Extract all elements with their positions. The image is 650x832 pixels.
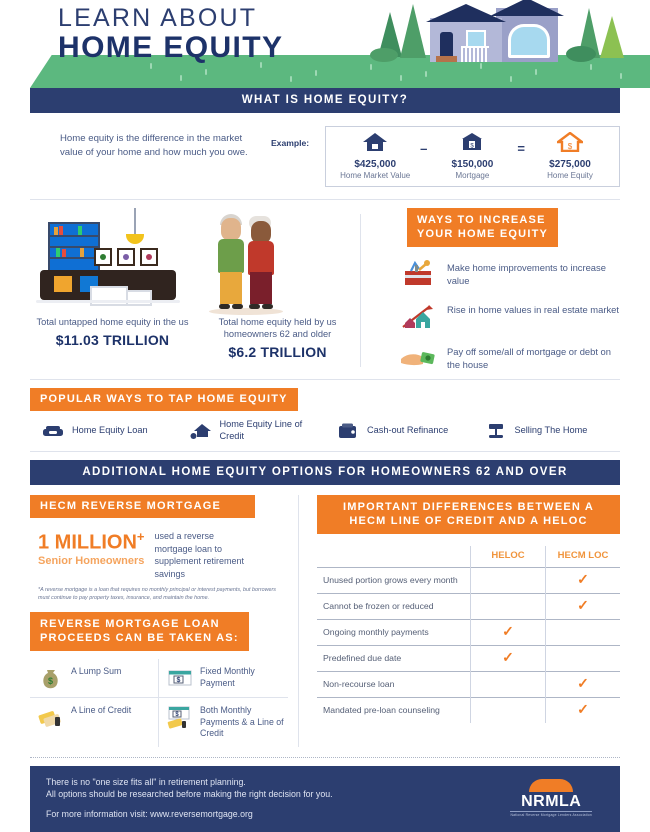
banner-line-1: IMPORTANT DIFFERENCES BETWEEN A [343,501,594,513]
pendant-lamp-icon [126,234,144,244]
example-caption: Mortgage [433,171,511,180]
stat-caption: Total untapped home equity in the us [30,316,195,328]
way-item-label: Make home improvements to increase value [447,257,620,287]
house-scene-illustration [370,2,650,64]
footer-text: There is no "one size fits all" in retir… [46,776,333,821]
hand-cash-icon [399,341,437,373]
credit-card-icon [38,705,64,729]
popular-way-heloc[interactable]: Home Equity Line of Credit [178,419,326,442]
cell-hecm-loc: ✓ [546,672,621,698]
row-label: Cannot be frozen or reduced [317,594,471,620]
sunrise-icon [529,779,573,792]
headline-plus: + [137,529,145,544]
svg-text:$: $ [48,676,53,686]
stats-section: Total untapped home equity in the us $11… [30,200,620,379]
popular-ways-list: Home Equity Loan Home Equity Line of Cre… [30,411,620,451]
example-label: Example: [271,126,309,148]
house-growth-chart-icon [399,299,437,331]
way-item-market-rise: Rise in home values in real estate marke… [389,299,620,331]
page-title: LEARN ABOUT HOME EQUITY [58,4,283,64]
way-item-label: Pay off some/all of mortgage or debt on … [447,341,620,371]
home-equity-description: Home equity is the difference in the mar… [30,126,261,160]
living-room-illustration [30,208,195,316]
example-caption: Home Market Value [336,171,414,180]
svg-text:$: $ [568,142,573,151]
bank-icon: $ [459,132,485,152]
popular-way-cash-out-refinance[interactable]: Cash-out Refinance [325,422,473,440]
stat-senior-equity: Total home equity held by us homeowners … [195,208,360,373]
footer-line-3[interactable]: For more information visit: www.reversem… [46,808,333,821]
cell-hecm-loc: ✓ [546,568,621,594]
proceeds-item-lump-sum: $ A Lump Sum [30,659,159,698]
wallet-icon [337,422,359,440]
hero-header: LEARN ABOUT HOME EQUITY [0,0,650,88]
cell-heloc: ✓ [471,646,546,672]
popular-way-label: Cash-out Refinance [367,425,448,437]
column-header-blank [317,546,471,568]
cell-heloc [471,698,546,724]
stat-value: $11.03 TRILLION [30,332,195,348]
banner-popular-ways: POPULAR WAYS TO TAP HOME EQUITY [30,388,298,411]
cell-heloc [471,568,546,594]
row-label: Mandated pre-loan counseling [317,698,471,724]
equity-stats: Total untapped home equity in the us $11… [30,208,360,373]
row-label: Non-recourse loan [317,672,471,698]
cell-hecm-loc [546,646,621,672]
proceeds-item-label: A Lump Sum [71,666,121,678]
bush-icon [370,48,398,62]
operator-minus: – [420,141,427,172]
house-illustration [430,4,565,62]
comparison-table: HELOC HECM LOC Unused portion grows ever… [317,546,620,723]
popular-way-selling-the-home[interactable]: Selling The Home [473,422,621,440]
comparison-column: IMPORTANT DIFFERENCES BETWEEN A HECM LIN… [298,495,620,747]
popular-way-label: Home Equity Line of Credit [220,419,326,442]
example-amount: $150,000 [433,159,511,170]
check-icon: ✓ [577,571,589,587]
wall-frames-icon [94,248,158,266]
hecm-column: HECM REVERSE MORTGAGE 1 MILLION+ Senior … [30,495,288,747]
banner-comparison: IMPORTANT DIFFERENCES BETWEEN A HECM LIN… [317,495,620,534]
table-row: Mandated pre-loan counseling✓ [317,698,620,724]
footer: There is no "one size fits all" in retir… [30,766,620,832]
table-row: Unused portion grows every month✓ [317,568,620,594]
proceeds-section: REVERSE MORTGAGE LOAN PROCEEDS CAN BE TA… [30,612,288,747]
example-box: $425,000 Home Market Value – $ $150,000 … [325,126,620,187]
proceeds-item-label: Fixed Monthly Payment [200,666,284,689]
cell-heloc: ✓ [471,620,546,646]
infographic-page: LEARN ABOUT HOME EQUITY WHAT IS HOME EQU… [0,0,650,691]
stat-value: $6.2 TRILLION [195,344,360,360]
banner-additional-options: ADDITIONAL HOME EQUITY OPTIONS FOR HOMEO… [30,460,620,485]
house-arch-window [508,24,550,58]
tree-icon [400,4,426,58]
house-arrow-icon [190,422,212,440]
stat-untapped-equity: Total untapped home equity in the us $11… [30,208,195,373]
title-line-1: LEARN ABOUT [58,4,283,32]
proceeds-item-label: A Line of Credit [71,705,131,717]
banner-ways-to-increase: WAYS TO INCREASE YOUR HOME EQUITY [407,208,558,247]
nrmla-logo-name: NRMLA [510,793,592,811]
toolbox-icon [399,257,437,289]
example-item-mortgage: $ $150,000 Mortgage [433,132,511,180]
nrmla-logo-subtitle: National Reverse Mortgage Lenders Associ… [510,811,592,817]
cash-stack-icon [42,422,64,440]
example-amount: $425,000 [336,159,414,170]
popular-ways-section: POPULAR WAYS TO TAP HOME EQUITY Home Equ… [30,380,620,451]
footer-line-1: There is no "one size fits all" in retir… [46,776,333,789]
way-item-pay-off: Pay off some/all of mortgage or debt on … [389,341,620,373]
banner-what-is-home-equity: WHAT IS HOME EQUITY? [30,88,620,113]
row-label: Predefined due date [317,646,471,672]
table-row: Predefined due date✓ [317,646,620,672]
money-bag-icon: $ [38,666,64,690]
table-row: Ongoing monthly payments✓ [317,620,620,646]
hecm-headline: 1 MILLION+ [38,526,144,554]
comparison-table-body: Unused portion grows every month✓Cannot … [317,568,620,724]
way-item-improvements: Make home improvements to increase value [389,257,620,289]
row-label: Ongoing monthly payments [317,620,471,646]
proceeds-item-both: $ Both Monthly Payments & a Line of Cred… [159,698,288,747]
cell-hecm-loc: ✓ [546,594,621,620]
proceeds-grid: $ A Lump Sum $ [30,651,288,747]
proceeds-item-fixed-monthly: $ Fixed Monthly Payment [159,659,288,698]
ways-to-increase-section: WAYS TO INCREASE YOUR HOME EQUITY [371,208,620,373]
example-item-market-value: $425,000 Home Market Value [336,132,414,180]
check-dollar-icon: $ [167,666,193,690]
tree-icon [600,16,624,58]
divider [30,451,620,452]
proceeds-item-label: Both Monthly Payments & a Line of Credit [200,705,284,740]
check-icon: ✓ [502,649,514,665]
title-line-2: HOME EQUITY [58,32,283,64]
row-label: Unused portion grows every month [317,568,471,594]
check-icon: ✓ [577,675,589,691]
house-icon [362,132,388,152]
table-row: Non-recourse loan✓ [317,672,620,698]
table-row: Cannot be frozen or reduced✓ [317,594,620,620]
cell-heloc [471,672,546,698]
popular-way-label: Home Equity Loan [72,425,148,437]
way-item-label: Rise in home values in real estate marke… [447,299,619,316]
check-icon: ✓ [577,597,589,613]
hecm-footnote: *A reverse mortgage is a loan that requi… [30,580,288,602]
example-item-home-equity: $ $275,000 Home Equity [531,132,609,180]
column-header-heloc: HELOC [471,546,546,568]
example-caption: Home Equity [531,171,609,180]
banner-line-1: WAYS TO INCREASE [417,214,546,226]
cell-heloc [471,594,546,620]
nrmla-logo: NRMLA National Reverse Mortgage Lenders … [510,779,604,817]
banner-line-2: PROCEEDS CAN BE TAKEN AS: [40,632,239,644]
options-columns: HECM REVERSE MORTGAGE 1 MILLION+ Senior … [30,485,620,747]
check-icon: ✓ [577,701,589,717]
check-icon: ✓ [502,623,514,639]
banner-proceeds: REVERSE MORTGAGE LOAN PROCEEDS CAN BE TA… [30,612,249,651]
what-is-section: Home equity is the difference in the mar… [30,113,620,199]
cell-hecm-loc [546,620,621,646]
popular-way-label: Selling The Home [515,425,588,437]
house-dollar-icon: $ [557,132,583,152]
check-and-card-icon: $ [167,705,193,729]
stat-caption: Total home equity held by us homeowners … [195,316,360,340]
for-sale-sign-icon [485,422,507,440]
operator-equals: = [517,141,525,172]
banner-line-2: YOUR HOME EQUITY [417,228,548,240]
hecm-body: used a reverse mortgage loan to suppleme… [154,526,254,580]
footer-line-2: All options should be researched before … [46,788,333,801]
svg-text:$: $ [177,677,181,684]
divider-dotted [30,757,620,758]
proceeds-item-line-of-credit: A Line of Credit [30,698,159,747]
divider [360,214,361,367]
banner-line-1: REVERSE MORTGAGE LOAN [40,618,220,630]
banner-hecm-reverse-mortgage: HECM REVERSE MORTGAGE [30,495,255,518]
bush-icon [566,46,596,62]
popular-way-home-equity-loan[interactable]: Home Equity Loan [30,422,178,440]
bookshelf-icon [48,222,100,274]
column-header-hecm-loc: HECM LOC [546,546,621,568]
hecm-subhead: Senior Homeowners [38,554,144,568]
example-amount: $275,000 [531,159,609,170]
hecm-stat: 1 MILLION+ Senior Homeowners used a reve… [30,518,288,580]
cell-hecm-loc: ✓ [546,698,621,724]
senior-couple-illustration [195,208,360,316]
table-header-row: HELOC HECM LOC [317,546,620,568]
banner-line-2: HECM LINE OF CREDIT AND A HELOC [349,515,587,527]
